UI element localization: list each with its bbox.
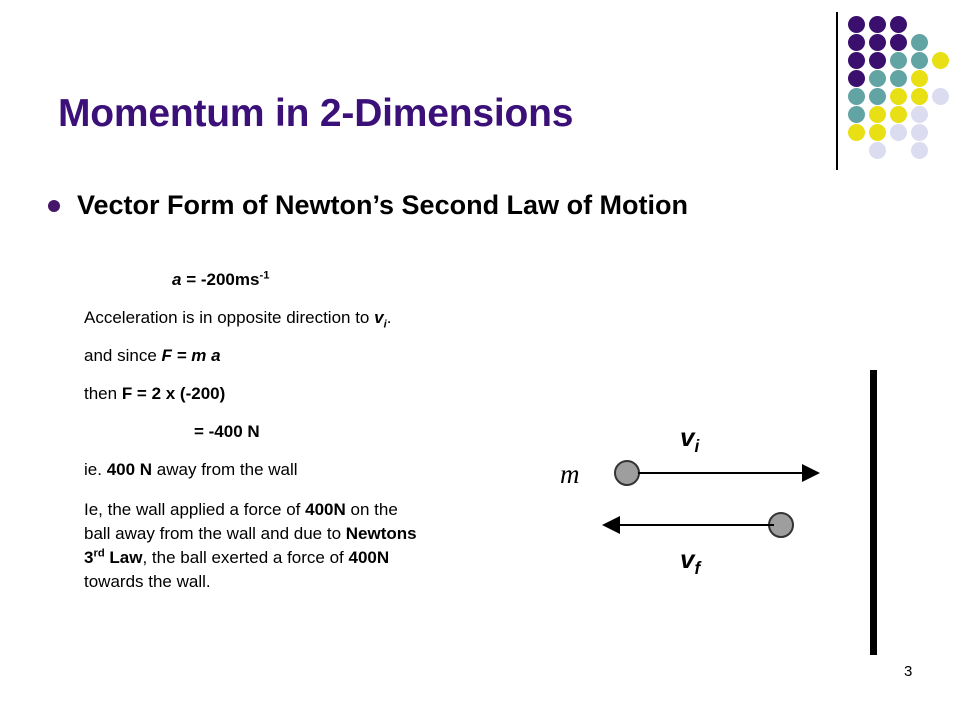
dot-grid-logo — [848, 16, 956, 161]
logo-dot-purple — [869, 34, 886, 51]
paragraph-force-1: 400N — [305, 500, 346, 519]
logo-dot-lavender — [890, 124, 907, 141]
paragraph-segment-6: , the ball exerted a force of — [142, 548, 348, 567]
logo-dot-lavender — [932, 88, 949, 105]
logo-dot-yellow — [932, 52, 949, 69]
logo-dot-yellow — [911, 70, 928, 87]
line-result: = -400 N — [84, 422, 464, 441]
ie-suffix: away from the wall — [152, 460, 298, 479]
header-divider-line — [836, 12, 838, 170]
collision-diagram: m vi vf — [540, 360, 960, 660]
logo-dot-yellow — [890, 106, 907, 123]
line-direction: Acceleration is in opposite direction to… — [84, 308, 464, 327]
logo-dot-lavender — [911, 124, 928, 141]
ordinal-superscript: rd — [93, 547, 104, 559]
line-acceleration-value: a = -200ms-1 — [84, 270, 464, 289]
ie-prefix: ie. — [84, 460, 107, 479]
logo-dot-purple — [848, 70, 865, 87]
logo-dot-teal — [890, 52, 907, 69]
logo-dot-teal — [869, 70, 886, 87]
initial-velocity-label: vi — [680, 422, 699, 453]
mass-label: m — [560, 459, 580, 490]
body-text-block: a = -200ms-1 Acceleration is in opposite… — [84, 270, 464, 594]
force-result: = -400 N — [194, 422, 260, 441]
line-then: then F = 2 x (-200) — [84, 384, 464, 403]
final-velocity-label: vf — [680, 544, 700, 575]
logo-dot-purple — [869, 52, 886, 69]
final-velocity-arrow-line — [618, 524, 774, 526]
line-ie-summary: ie. 400 N away from the wall — [84, 460, 464, 479]
velocity-initial-symbol: v — [374, 308, 383, 327]
force-calculation: F = 2 x (-200) — [122, 384, 225, 403]
initial-velocity-subscript: i — [694, 436, 699, 456]
logo-dot-teal — [890, 70, 907, 87]
ball-initial — [614, 460, 640, 486]
and-since-prefix: and since — [84, 346, 162, 365]
initial-velocity-arrow-line — [638, 472, 808, 474]
wall-bar — [870, 370, 877, 655]
initial-velocity-symbol: v — [680, 422, 694, 452]
paragraph-force-2: 400N — [349, 548, 390, 567]
bullet-item-label: Vector Form of Newton’s Second Law of Mo… — [77, 190, 688, 221]
newton-second-law-formula: F = m a — [162, 346, 221, 365]
explanation-paragraph: Ie, the wall applied a force of 400N on … — [84, 498, 424, 594]
logo-dot-purple — [848, 52, 865, 69]
logo-dot-lavender — [911, 142, 928, 159]
logo-dot-yellow — [848, 124, 865, 141]
logo-dot-teal — [848, 106, 865, 123]
logo-dot-teal — [869, 88, 886, 105]
logo-dot-yellow — [890, 88, 907, 105]
initial-velocity-arrowhead-icon — [802, 464, 820, 482]
logo-dot-purple — [869, 16, 886, 33]
page-number: 3 — [904, 663, 912, 680]
bullet-list-item: Vector Form of Newton’s Second Law of Mo… — [48, 190, 688, 221]
acceleration-equals: = — [181, 270, 200, 289]
logo-dot-yellow — [911, 88, 928, 105]
logo-dot-teal — [911, 52, 928, 69]
then-prefix: then — [84, 384, 122, 403]
acceleration-value: -200ms — [201, 270, 260, 289]
logo-dot-purple — [848, 34, 865, 51]
logo-dot-yellow — [869, 124, 886, 141]
acceleration-exponent: -1 — [259, 269, 269, 281]
logo-dot-teal — [911, 34, 928, 51]
page-title: Momentum in 2-Dimensions — [58, 92, 573, 136]
final-velocity-subscript: f — [694, 558, 700, 578]
paragraph-segment-8: towards the wall. — [84, 572, 211, 591]
logo-dot-purple — [890, 16, 907, 33]
final-velocity-arrowhead-icon — [602, 516, 620, 534]
line-and-since: and since F = m a — [84, 346, 464, 365]
logo-dot-lavender — [911, 106, 928, 123]
ie-force-value: 400 N — [107, 460, 152, 479]
final-velocity-symbol: v — [680, 544, 694, 574]
bullet-dot-icon — [48, 200, 60, 212]
logo-dot-purple — [890, 34, 907, 51]
paragraph-segment-1: Ie, the wall applied a force of — [84, 500, 305, 519]
newtons-third-law-suffix: Law — [105, 548, 143, 567]
logo-dot-teal — [848, 88, 865, 105]
logo-dot-yellow — [869, 106, 886, 123]
direction-period: . — [387, 308, 392, 327]
logo-dot-purple — [848, 16, 865, 33]
logo-dot-lavender — [869, 142, 886, 159]
direction-text: Acceleration is in opposite direction to — [84, 308, 374, 327]
